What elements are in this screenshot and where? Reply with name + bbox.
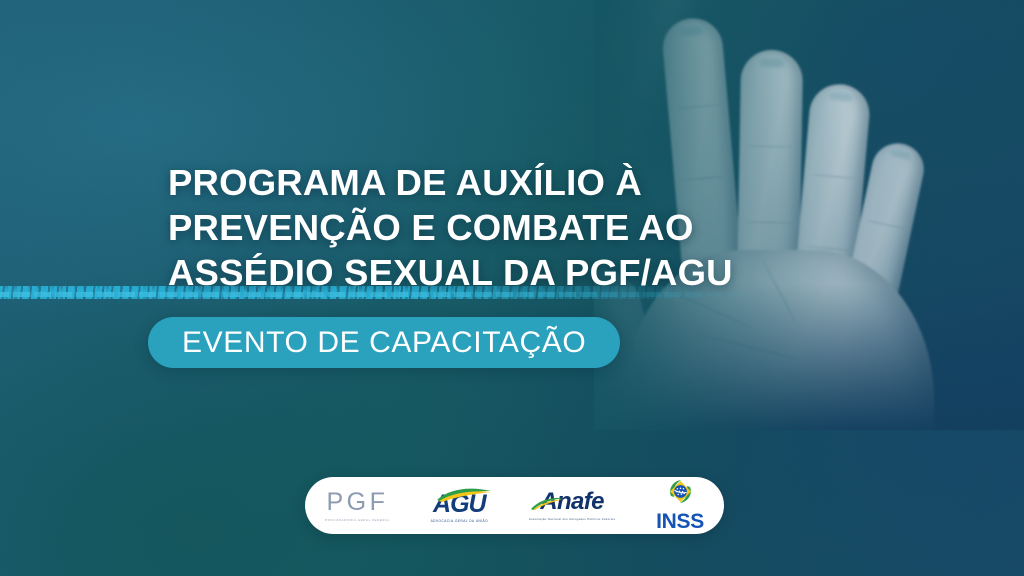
inss-emblem-icon <box>667 478 694 505</box>
hand-fingernail <box>827 88 855 102</box>
anafe-swoosh-icon <box>530 497 564 510</box>
pgf-logo-wordmark: PGF <box>326 490 388 515</box>
agu-logo-wordmark: AGU <box>433 492 486 517</box>
anafe-logo: Anafe Associação Nacional dos Advogados … <box>529 490 615 521</box>
inss-logo-wordmark: INSS <box>656 510 704 534</box>
headline-line-3: ASSÉDIO SEXUAL DA PGF/AGU <box>168 250 788 295</box>
pgf-logo: PGF PROCURADORIA-GERAL FEDERAL <box>325 490 390 522</box>
inss-logo: INSS <box>656 478 704 534</box>
logo-bar: PGF PROCURADORIA-GERAL FEDERAL AGU ADVOC… <box>305 477 724 534</box>
pgf-logo-subtitle: PROCURADORIA-GERAL FEDERAL <box>325 518 390 522</box>
poster-headline: PROGRAMA DE AUXÍLIO À PREVENÇÃO E COMBAT… <box>168 160 788 295</box>
hand-knuckle-crease <box>747 146 794 148</box>
hand-fingernail <box>677 22 706 37</box>
event-type-badge: EVENTO DE CAPACITAÇÃO <box>148 317 620 368</box>
hand-fingernail <box>758 55 786 68</box>
hand-fingernail <box>888 145 915 161</box>
headline-line-2: PREVENÇÃO E COMBATE AO <box>168 205 788 250</box>
hand-knuckle-crease <box>867 220 906 229</box>
event-type-badge-label: EVENTO DE CAPACITAÇÃO <box>182 326 586 360</box>
headline-line-1: PROGRAMA DE AUXÍLIO À <box>168 160 788 205</box>
agu-logo: AGU ADVOCACIA-GERAL DA UNIÃO <box>431 488 488 523</box>
hand-vein <box>695 333 802 362</box>
hand-knuckle-crease <box>675 104 721 109</box>
hand-knuckle-crease <box>811 174 857 179</box>
anafe-logo-subtitle: Associação Nacional dos Advogados Públic… <box>529 517 615 521</box>
poster-canvas: PROGRAMA DE AUXÍLIO À PREVENÇÃO E COMBAT… <box>0 0 1024 576</box>
agu-logo-subtitle: ADVOCACIA-GERAL DA UNIÃO <box>431 519 488 523</box>
